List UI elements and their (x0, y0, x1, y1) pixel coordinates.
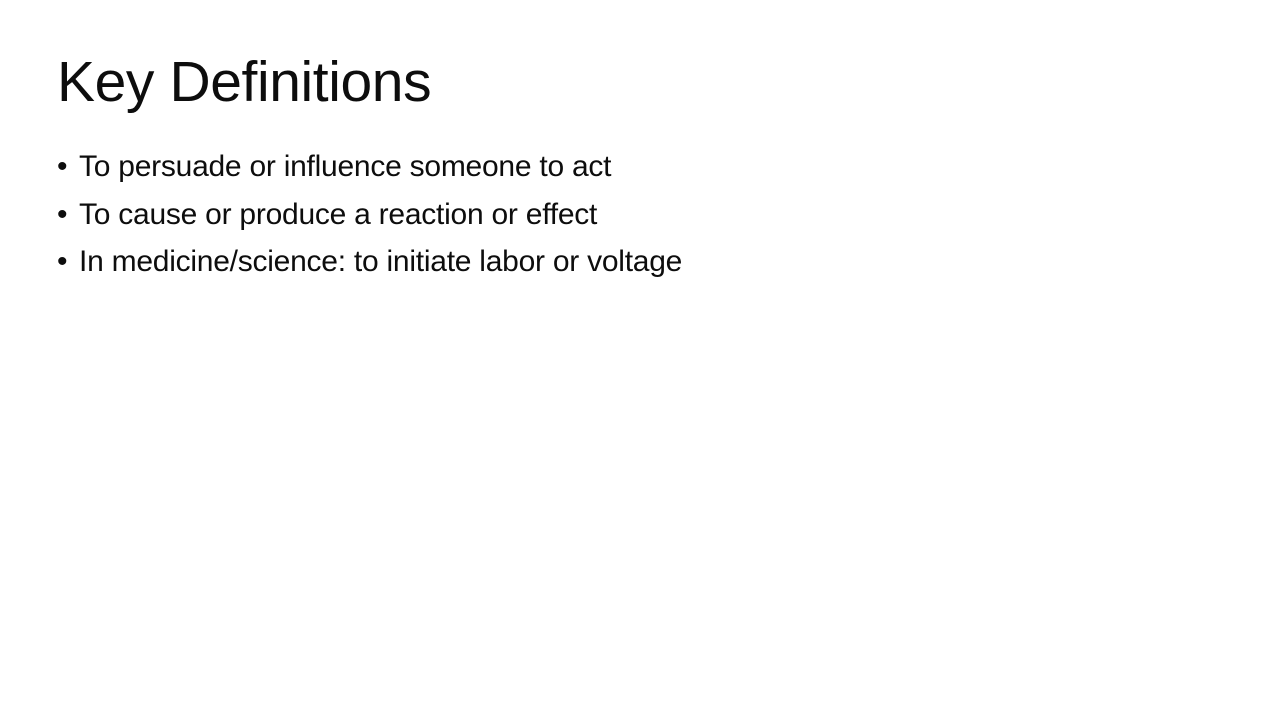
bullet-dot-icon: • (57, 152, 79, 182)
presentation-slide: Key Definitions • To persuade or influen… (0, 0, 1280, 720)
slide-title: Key Definitions (57, 51, 431, 115)
list-item: • To cause or produce a reaction or effe… (57, 200, 1207, 248)
list-item: • To persuade or influence someone to ac… (57, 152, 1207, 200)
bullet-dot-icon: • (57, 200, 79, 230)
bullet-text: To cause or produce a reaction or effect (79, 200, 597, 230)
bullet-dot-icon: • (57, 247, 79, 277)
bullet-text: In medicine/science: to initiate labor o… (79, 247, 682, 277)
definitions-bullet-list: • To persuade or influence someone to ac… (57, 152, 1207, 295)
bullet-text: To persuade or influence someone to act (79, 152, 611, 182)
list-item: • In medicine/science: to initiate labor… (57, 247, 1207, 295)
